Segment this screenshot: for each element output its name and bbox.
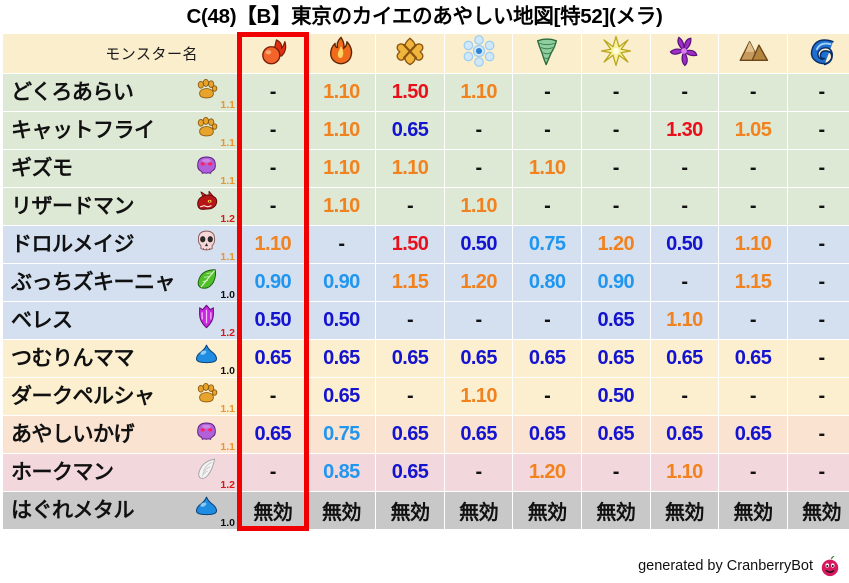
- monster-name-cell[interactable]: はぐれメタル1.0: [3, 492, 238, 529]
- resistance-cell: 1.10: [308, 112, 376, 149]
- resistance-cell: 1.05: [719, 112, 787, 149]
- lightburst-icon: [599, 34, 633, 68]
- resistance-cell: 無効: [788, 492, 849, 529]
- resistance-cell: 0.65: [719, 416, 787, 453]
- explosion-icon: [393, 34, 427, 68]
- resistance-cell: -: [651, 74, 719, 111]
- monster-name-label: ダークペルシャ: [11, 386, 155, 407]
- monster-meta: 1.1: [192, 112, 236, 149]
- resistance-cell: -: [788, 188, 849, 225]
- resistance-cell: 0.50: [239, 302, 307, 339]
- resistance-cell: -: [582, 454, 650, 491]
- resistance-cell: 1.15: [376, 264, 444, 301]
- resistance-cell: 1.10: [308, 188, 376, 225]
- monster-name-cell[interactable]: リザードマン1.2: [3, 188, 238, 225]
- footer-credit: generated by CranberryBot: [638, 555, 841, 577]
- resistance-cell: -: [445, 112, 513, 149]
- resistance-cell: 1.10: [719, 226, 787, 263]
- resistance-cell: 0.65: [308, 340, 376, 377]
- monster-level: 1.1: [220, 176, 235, 187]
- slime-icon: [194, 342, 219, 367]
- table-row: はぐれメタル1.0無効無効無効無効無効無効無効無効無効: [3, 492, 849, 529]
- monster-meta: 1.1: [192, 74, 236, 111]
- element-header-bagi[interactable]: [513, 34, 581, 73]
- flame-icon: [324, 34, 358, 68]
- resistance-cell: 0.85: [308, 454, 376, 491]
- resistance-cell: -: [239, 454, 307, 491]
- resistance-cell: -: [788, 302, 849, 339]
- resistance-cell: -: [445, 150, 513, 187]
- element-header-iora[interactable]: [376, 34, 444, 73]
- leaf-icon: [194, 266, 219, 291]
- monster-level: 1.0: [220, 290, 235, 301]
- resistance-cell: 0.50: [308, 302, 376, 339]
- element-header-jibaria[interactable]: [719, 34, 787, 73]
- monster-meta: 1.1: [192, 226, 236, 263]
- table-row: リザードマン1.2-1.10-1.10-----: [3, 188, 849, 225]
- monster-meta: 1.1: [192, 378, 236, 415]
- resistance-cell: 1.30: [651, 112, 719, 149]
- monster-meta: 1.0: [192, 264, 236, 301]
- monster-meta: 1.2: [192, 302, 236, 339]
- resistance-cell: 0.50: [582, 378, 650, 415]
- resistance-cell: -: [788, 416, 849, 453]
- resistance-cell: -: [239, 150, 307, 187]
- wave-icon: [805, 34, 839, 68]
- resistance-cell: 1.10: [651, 302, 719, 339]
- resistance-cell: 無効: [582, 492, 650, 529]
- resistance-table: モンスター名 どくろあらい1.1-1.101.501.10-----キャットフラ…: [2, 33, 849, 530]
- resistance-cell: 1.20: [445, 264, 513, 301]
- ghost-icon: [194, 152, 219, 177]
- resistance-cell: -: [239, 378, 307, 415]
- resistance-cell: 無効: [719, 492, 787, 529]
- paw-icon: [194, 114, 219, 139]
- table-row: キャットフライ1.1-1.100.65---1.301.05-: [3, 112, 849, 149]
- resistance-cell: 1.20: [582, 226, 650, 263]
- resistance-cell: -: [651, 150, 719, 187]
- monster-level: 1.1: [220, 138, 235, 149]
- resistance-cell: 1.10: [239, 226, 307, 263]
- monster-name-label: ホークマン: [11, 462, 114, 483]
- resistance-cell: 1.10: [445, 188, 513, 225]
- resistance-cell: -: [308, 226, 376, 263]
- monster-name-cell[interactable]: あやしいかげ1.1: [3, 416, 238, 453]
- resistance-cell: 無効: [445, 492, 513, 529]
- resistance-cell: -: [513, 74, 581, 111]
- resistance-cell: -: [513, 112, 581, 149]
- paw-icon: [194, 380, 219, 405]
- element-header-hyado[interactable]: [445, 34, 513, 73]
- resistance-cell: -: [788, 112, 849, 149]
- element-header-mera[interactable]: [239, 34, 307, 73]
- resistance-table-wrapper: モンスター名 どくろあらい1.1-1.101.501.10-----キャットフラ…: [0, 33, 849, 530]
- monster-level: 1.1: [220, 252, 235, 263]
- resistance-cell: 0.65: [719, 340, 787, 377]
- resistance-cell: -: [788, 340, 849, 377]
- resistance-cell: 0.65: [376, 340, 444, 377]
- resistance-cell: -: [788, 226, 849, 263]
- resistance-cell: 無効: [651, 492, 719, 529]
- monster-name-cell[interactable]: ギズモ1.1: [3, 150, 238, 187]
- resistance-cell: 0.65: [513, 416, 581, 453]
- table-row: ダークペルシャ1.1-0.65-1.10-0.50---: [3, 378, 849, 415]
- trident-icon: [194, 304, 219, 329]
- monster-meta: 1.2: [192, 188, 236, 225]
- footer-text: generated by CranberryBot: [638, 558, 813, 574]
- resistance-cell: 1.10: [651, 454, 719, 491]
- monster-meta: 1.1: [192, 150, 236, 187]
- resistance-cell: 1.50: [376, 74, 444, 111]
- paw-icon: [194, 76, 219, 101]
- resistance-cell: 0.65: [445, 416, 513, 453]
- resistance-cell: 0.65: [651, 416, 719, 453]
- resistance-cell: 1.20: [513, 454, 581, 491]
- resistance-cell: -: [445, 454, 513, 491]
- resistance-cell: 0.65: [376, 454, 444, 491]
- resistance-cell: -: [513, 188, 581, 225]
- resistance-cell: 0.90: [582, 264, 650, 301]
- resistance-cell: -: [651, 188, 719, 225]
- cranberry-bot-icon: [819, 555, 841, 577]
- resistance-cell: -: [788, 150, 849, 187]
- table-header-row: モンスター名: [3, 34, 849, 73]
- resistance-cell: -: [788, 378, 849, 415]
- table-row: ぶっちズキーニャ1.00.900.901.151.200.800.90-1.15…: [3, 264, 849, 301]
- resistance-cell: 0.65: [513, 340, 581, 377]
- resistance-cell: -: [239, 74, 307, 111]
- resistance-cell: 1.10: [445, 74, 513, 111]
- resistance-cell: 1.10: [308, 74, 376, 111]
- monster-level: 1.1: [220, 100, 235, 111]
- resistance-cell: -: [719, 454, 787, 491]
- monster-name-label: つむりんママ: [11, 348, 134, 369]
- resistance-cell: 0.75: [308, 416, 376, 453]
- resistance-cell: 1.50: [376, 226, 444, 263]
- monster-name-label: リザードマン: [11, 196, 134, 217]
- monster-level: 1.2: [220, 480, 235, 491]
- monster-name-label: ベレス: [11, 310, 73, 331]
- monster-name-label: はぐれメタル: [11, 500, 134, 521]
- resistance-cell: 0.90: [308, 264, 376, 301]
- darkspin-icon: [667, 34, 701, 68]
- monster-level: 1.0: [220, 518, 235, 529]
- table-row: どくろあらい1.1-1.101.501.10-----: [3, 74, 849, 111]
- resistance-cell: -: [582, 188, 650, 225]
- resistance-cell: -: [239, 188, 307, 225]
- resistance-cell: 無効: [308, 492, 376, 529]
- resistance-cell: -: [719, 188, 787, 225]
- monster-name-label: あやしいかげ: [11, 424, 134, 445]
- resistance-cell: 0.65: [651, 340, 719, 377]
- resistance-cell: -: [445, 302, 513, 339]
- monster-name-cell[interactable]: ぶっちズキーニャ1.0: [3, 264, 238, 301]
- resistance-cell: 1.10: [308, 150, 376, 187]
- slime-icon: [194, 494, 219, 519]
- resistance-cell: 1.10: [513, 150, 581, 187]
- resistance-cell: 無効: [239, 492, 307, 529]
- mountain-icon: [736, 34, 770, 68]
- resistance-cell: 0.75: [513, 226, 581, 263]
- monster-meta: 1.0: [192, 492, 236, 529]
- resistance-cell: 0.65: [239, 340, 307, 377]
- resistance-cell: 無効: [513, 492, 581, 529]
- resistance-cell: -: [582, 74, 650, 111]
- resistance-cell: -: [582, 150, 650, 187]
- resistance-cell: 0.90: [239, 264, 307, 301]
- resistance-cell: 0.65: [582, 302, 650, 339]
- monster-level: 1.1: [220, 442, 235, 453]
- monster-name-cell[interactable]: ダークペルシャ1.1: [3, 378, 238, 415]
- resistance-cell: -: [513, 378, 581, 415]
- monster-name-cell[interactable]: どくろあらい1.1: [3, 74, 238, 111]
- resistance-cell: 無効: [376, 492, 444, 529]
- element-header-dein[interactable]: [582, 34, 650, 73]
- monster-name-label: どくろあらい: [11, 82, 133, 103]
- resistance-cell: 0.65: [582, 340, 650, 377]
- element-header-dorma[interactable]: [651, 34, 719, 73]
- ghost-icon: [194, 418, 219, 443]
- monster-level: 1.1: [220, 404, 235, 415]
- monster-name-cell[interactable]: つむりんママ1.0: [3, 340, 238, 377]
- table-row: ベレス1.20.500.50---0.651.10--: [3, 302, 849, 339]
- wing-icon: [194, 456, 219, 481]
- monster-level: 1.0: [220, 366, 235, 377]
- monster-name-cell[interactable]: ホークマン1.2: [3, 454, 238, 491]
- resistance-cell: 1.15: [719, 264, 787, 301]
- resistance-cell: -: [788, 264, 849, 301]
- resistance-cell: -: [788, 454, 849, 491]
- page-title: C(48)【B】東京のカイエのあやしい地図[特52](メラ): [0, 0, 849, 33]
- resistance-cell: 0.50: [445, 226, 513, 263]
- resistance-cell: -: [239, 112, 307, 149]
- monster-name-label: ぶっちズキーニャ: [11, 272, 175, 293]
- monster-name-label: キャットフライ: [11, 120, 155, 141]
- monster-level: 1.2: [220, 214, 235, 225]
- monster-name-cell[interactable]: ベレス1.2: [3, 302, 238, 339]
- resistance-cell: -: [719, 302, 787, 339]
- resistance-cell: 0.65: [582, 416, 650, 453]
- resistance-cell: -: [376, 378, 444, 415]
- resistance-cell: 0.50: [651, 226, 719, 263]
- resistance-cell: -: [651, 378, 719, 415]
- resistance-cell: 0.80: [513, 264, 581, 301]
- monster-name-header: モンスター名: [3, 34, 238, 73]
- resistance-cell: 0.65: [376, 416, 444, 453]
- monster-name-label: ギズモ: [11, 158, 73, 179]
- resistance-cell: -: [513, 302, 581, 339]
- table-row: あやしいかげ1.10.650.750.650.650.650.650.650.6…: [3, 416, 849, 453]
- monster-name-cell[interactable]: キャットフライ1.1: [3, 112, 238, 149]
- resistance-cell: -: [719, 74, 787, 111]
- snowflake-icon: [462, 34, 496, 68]
- resistance-cell: 1.10: [445, 378, 513, 415]
- skull-icon: [194, 228, 219, 253]
- resistance-cell: -: [788, 74, 849, 111]
- resistance-cell: 0.65: [239, 416, 307, 453]
- monster-meta: 1.0: [192, 340, 236, 377]
- resistance-cell: -: [376, 188, 444, 225]
- resistance-cell: 0.65: [445, 340, 513, 377]
- monster-name-label: ドロルメイジ: [11, 234, 134, 255]
- monster-meta: 1.2: [192, 454, 236, 491]
- resistance-cell: 1.10: [376, 150, 444, 187]
- resistance-cell: 0.65: [308, 378, 376, 415]
- monster-name-cell[interactable]: ドロルメイジ1.1: [3, 226, 238, 263]
- resistance-cell: -: [651, 264, 719, 301]
- element-header-zamu[interactable]: [788, 34, 849, 73]
- fireball-icon: [256, 34, 290, 68]
- table-row: つむりんママ1.00.650.650.650.650.650.650.650.6…: [3, 340, 849, 377]
- resistance-cell: -: [582, 112, 650, 149]
- resistance-cell: -: [719, 378, 787, 415]
- table-row: ドロルメイジ1.11.10-1.500.500.751.200.501.10-: [3, 226, 849, 263]
- resistance-cell: -: [719, 150, 787, 187]
- monster-level: 1.2: [220, 328, 235, 339]
- dragon-icon: [194, 190, 219, 215]
- table-row: ギズモ1.1-1.101.10-1.10----: [3, 150, 849, 187]
- tornado-icon: [530, 34, 564, 68]
- table-body: どくろあらい1.1-1.101.501.10-----キャットフライ1.1-1.…: [3, 74, 849, 529]
- table-row: ホークマン1.2-0.850.65-1.20-1.10--: [3, 454, 849, 491]
- resistance-cell: -: [376, 302, 444, 339]
- monster-meta: 1.1: [192, 416, 236, 453]
- element-header-gira[interactable]: [308, 34, 376, 73]
- resistance-cell: 0.65: [376, 112, 444, 149]
